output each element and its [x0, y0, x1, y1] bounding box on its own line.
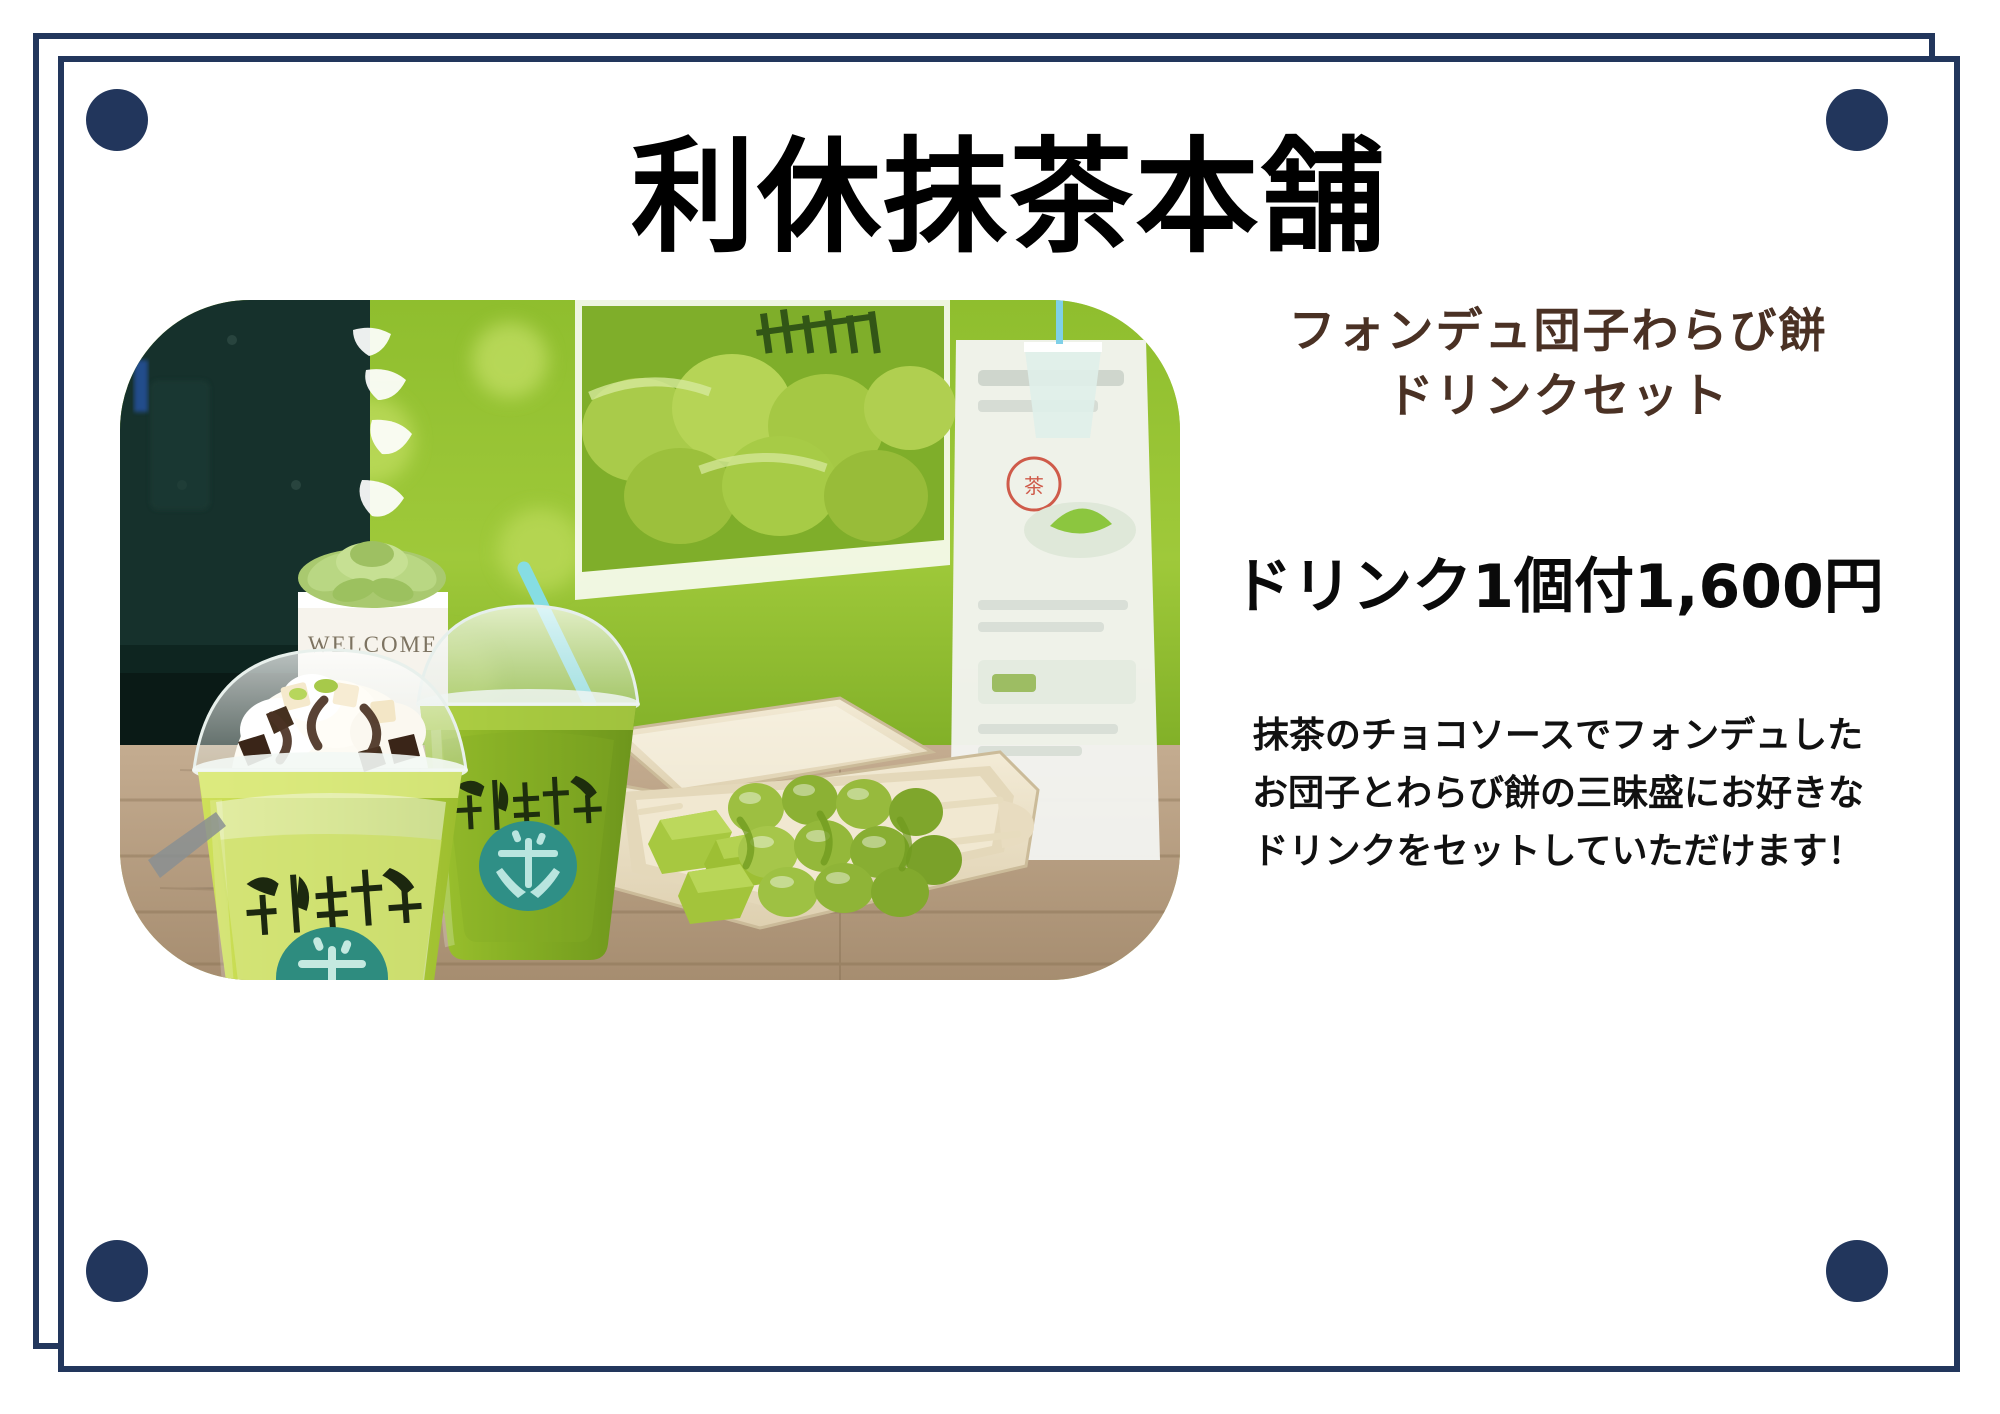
- product-photo-illustration: WELCOME 茶: [120, 300, 1180, 980]
- product-description-line-1: 抹茶のチョコソースでフォンデュした: [1208, 707, 1908, 765]
- product-name-line-2: ドリンクセット: [1208, 365, 1908, 430]
- product-info-column: フォンデュ団子わらび餅 ドリンクセット ドリンク1個付1,600円 抹茶のチョコ…: [1208, 300, 1908, 882]
- product-description-line-2: お団子とわらび餅の三昧盛にお好きな: [1208, 765, 1908, 823]
- product-name: フォンデュ団子わらび餅 ドリンクセット: [1208, 300, 1908, 430]
- svg-text:茶: 茶: [1024, 474, 1044, 498]
- product-name-line-1: フォンデュ団子わらび餅: [1208, 300, 1908, 365]
- product-description: 抹茶のチョコソースでフォンデュした お団子とわらび餅の三昧盛にお好きな ドリンク…: [1208, 707, 1908, 882]
- product-price: ドリンク1個付1,600円: [1208, 538, 1908, 625]
- product-photo: WELCOME 茶: [120, 300, 1180, 980]
- page-title: 利休抹茶本舗: [58, 136, 1960, 260]
- poster-content: 利休抹茶本舗: [58, 56, 1960, 1372]
- product-description-line-3: ドリンクをセットしていただけます！: [1208, 823, 1908, 881]
